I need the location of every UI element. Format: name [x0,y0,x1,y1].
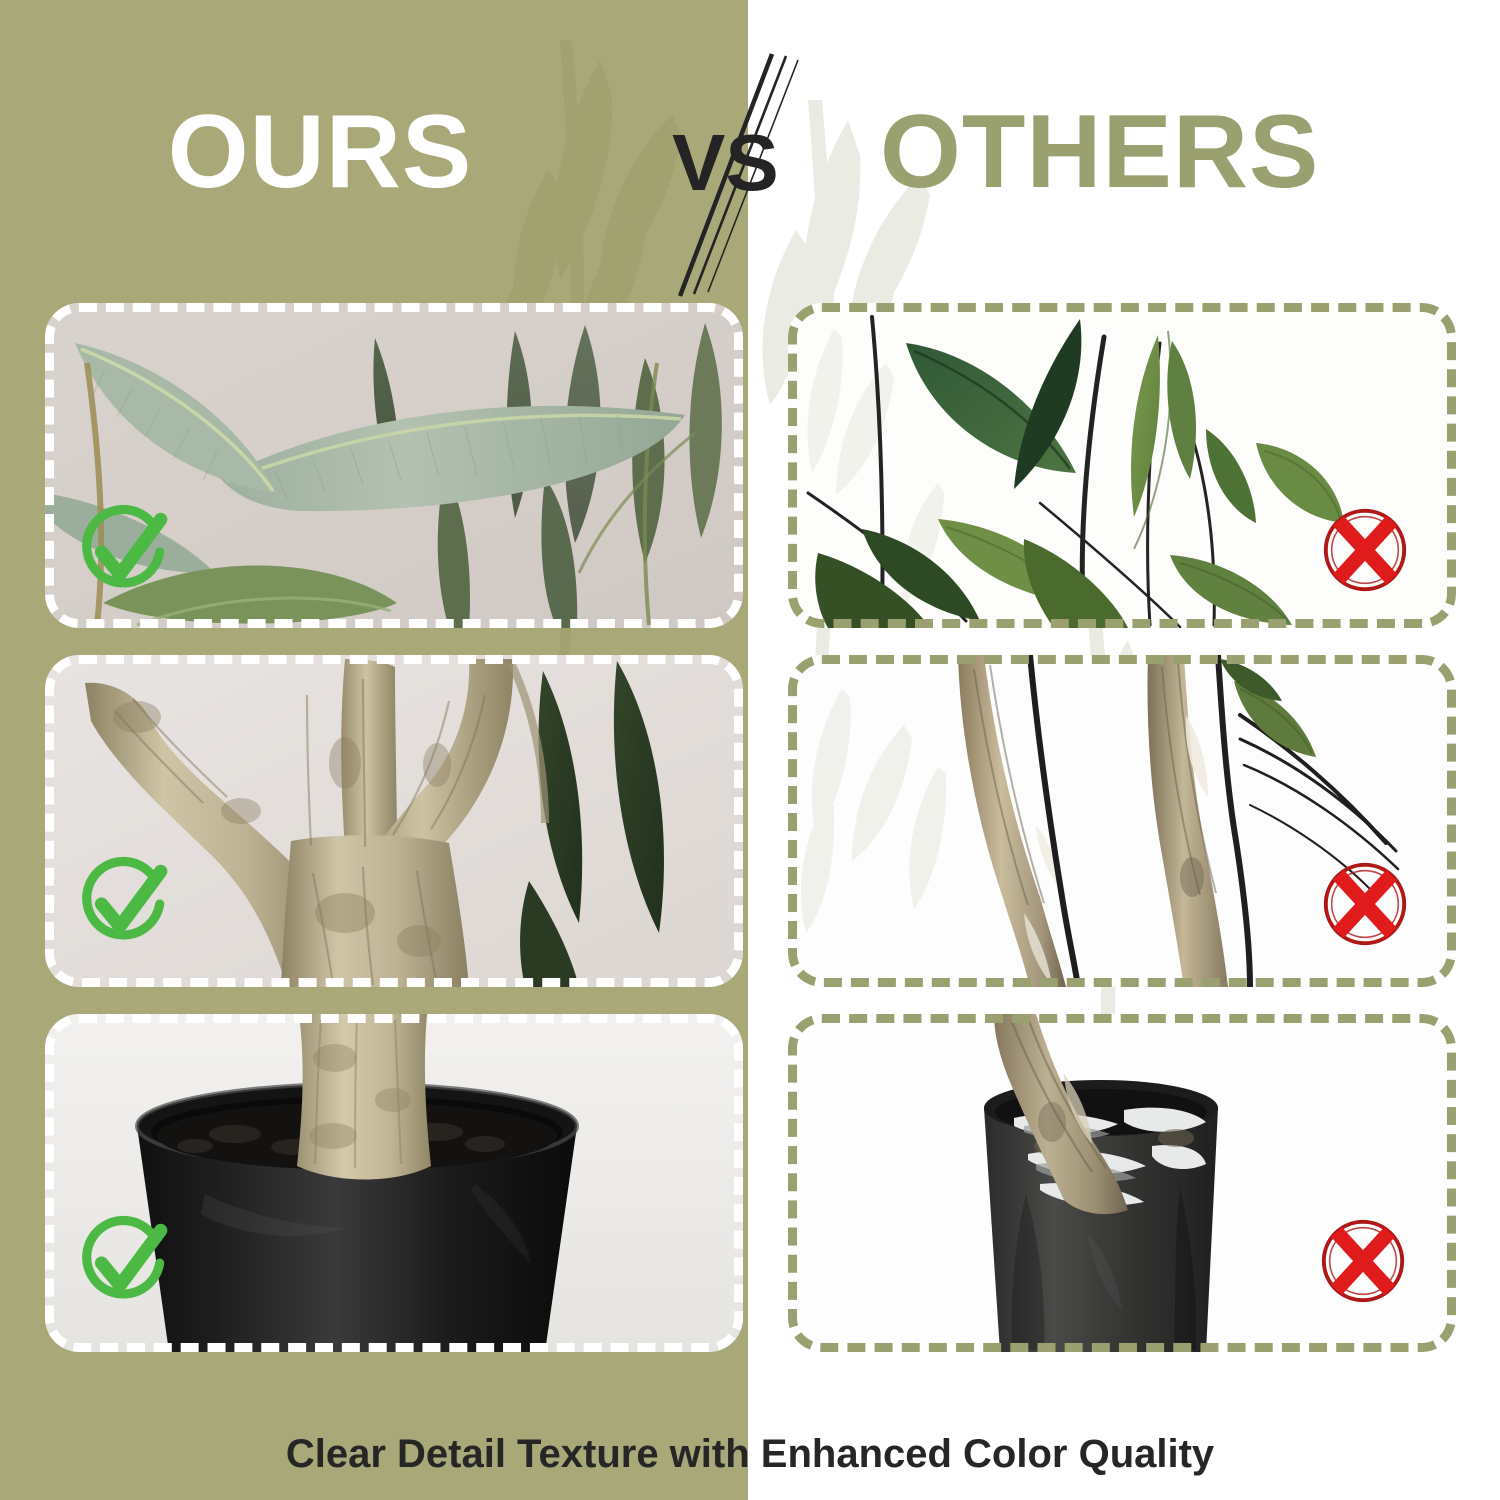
cross-icon [1316,501,1414,599]
comparison-panel-others-pot[interactable] [788,1014,1456,1352]
check-icon [73,851,175,953]
comparison-panel-ours-pot[interactable] [45,1014,743,1352]
comparison-panel-others-leaf[interactable] [788,303,1456,628]
cross-icon [1316,855,1414,953]
comparison-panel-ours-trunk[interactable] [45,655,743,987]
check-icon [73,1210,175,1312]
cross-icon [1314,1212,1412,1310]
check-icon [73,499,175,601]
vs-label: VS [672,123,779,203]
comparison-panel-others-trunk[interactable] [788,655,1456,987]
footer-caption: Clear Detail Texture with Enhanced Color… [0,1432,1500,1477]
comparison-panel-ours-leaf[interactable] [45,303,743,628]
